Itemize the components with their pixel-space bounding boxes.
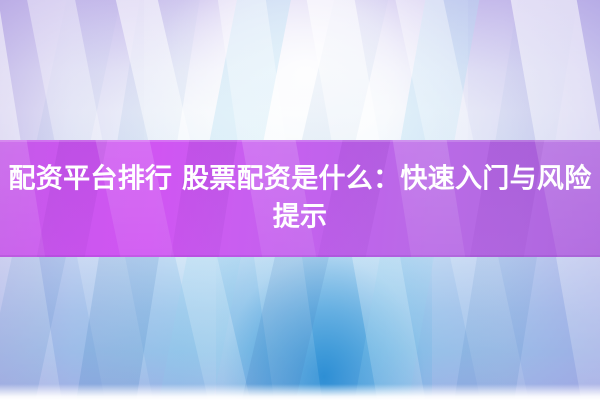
banner-title: 配资平台排行 股票配资是什么：快速入门与风险提示 [0,160,600,237]
background-blue-accent [216,248,432,400]
band-top-edge [0,140,600,142]
banner-image: 配资平台排行 股票配资是什么：快速入门与风险提示 [0,0,600,400]
band-bottom-edge [0,255,600,257]
title-band: 配资平台排行 股票配资是什么：快速入门与风险提示 [0,140,600,257]
bottom-fade-strip [0,384,600,400]
